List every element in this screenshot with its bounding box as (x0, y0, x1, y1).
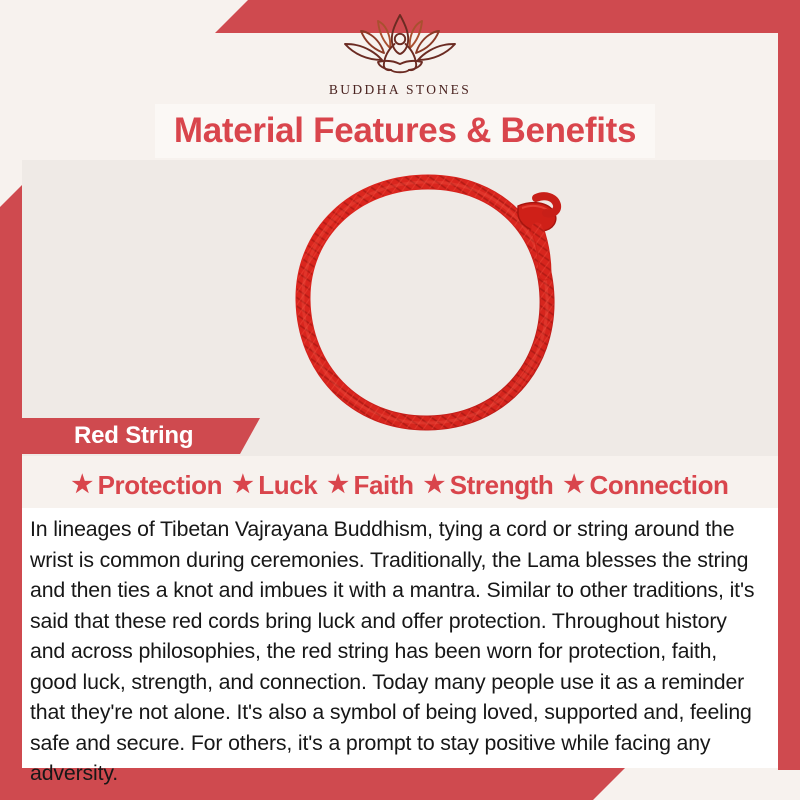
benefit-item-protection: ★ Protection (68, 470, 225, 501)
decorative-band-right (778, 33, 800, 770)
benefit-item-connection: ★ Connection (560, 470, 731, 501)
benefit-label: Protection (98, 470, 223, 501)
description-block: In lineages of Tibetan Vajrayana Buddhis… (22, 508, 778, 768)
benefit-item-strength: ★ Strength (421, 470, 557, 501)
benefit-item-faith: ★ Faith (324, 470, 416, 501)
benefit-label: Faith (354, 470, 414, 501)
title-banner: Material Features & Benefits (155, 104, 655, 158)
description-paragraph: In lineages of Tibetan Vajrayana Buddhis… (30, 514, 766, 789)
decorative-band-left (0, 185, 22, 800)
benefit-label: Luck (258, 470, 317, 501)
star-icon: ★ (232, 473, 253, 497)
page-title: Material Features & Benefits (174, 111, 636, 151)
product-name-ribbon: Red String (22, 418, 260, 454)
star-icon: ★ (563, 473, 584, 497)
benefit-label: Strength (450, 470, 554, 501)
star-icon: ★ (327, 473, 348, 497)
benefit-label: Connection (590, 470, 729, 501)
benefits-list: ★ Protection ★ Luck ★ Faith ★ Strength ★… (22, 462, 778, 508)
product-name-label: Red String (74, 422, 193, 450)
product-image-panel (22, 160, 778, 456)
benefit-item-luck: ★ Luck (229, 470, 320, 501)
star-icon: ★ (71, 473, 92, 497)
red-string-bracelet-image (250, 160, 610, 456)
brand-logo: BUDDHA STONES (0, 8, 800, 98)
brand-wordmark: BUDDHA STONES (329, 82, 471, 98)
infographic-page: BUDDHA STONES Material Features & Benefi… (0, 0, 800, 800)
star-icon: ★ (424, 473, 445, 497)
lotus-meditation-icon (334, 8, 466, 80)
